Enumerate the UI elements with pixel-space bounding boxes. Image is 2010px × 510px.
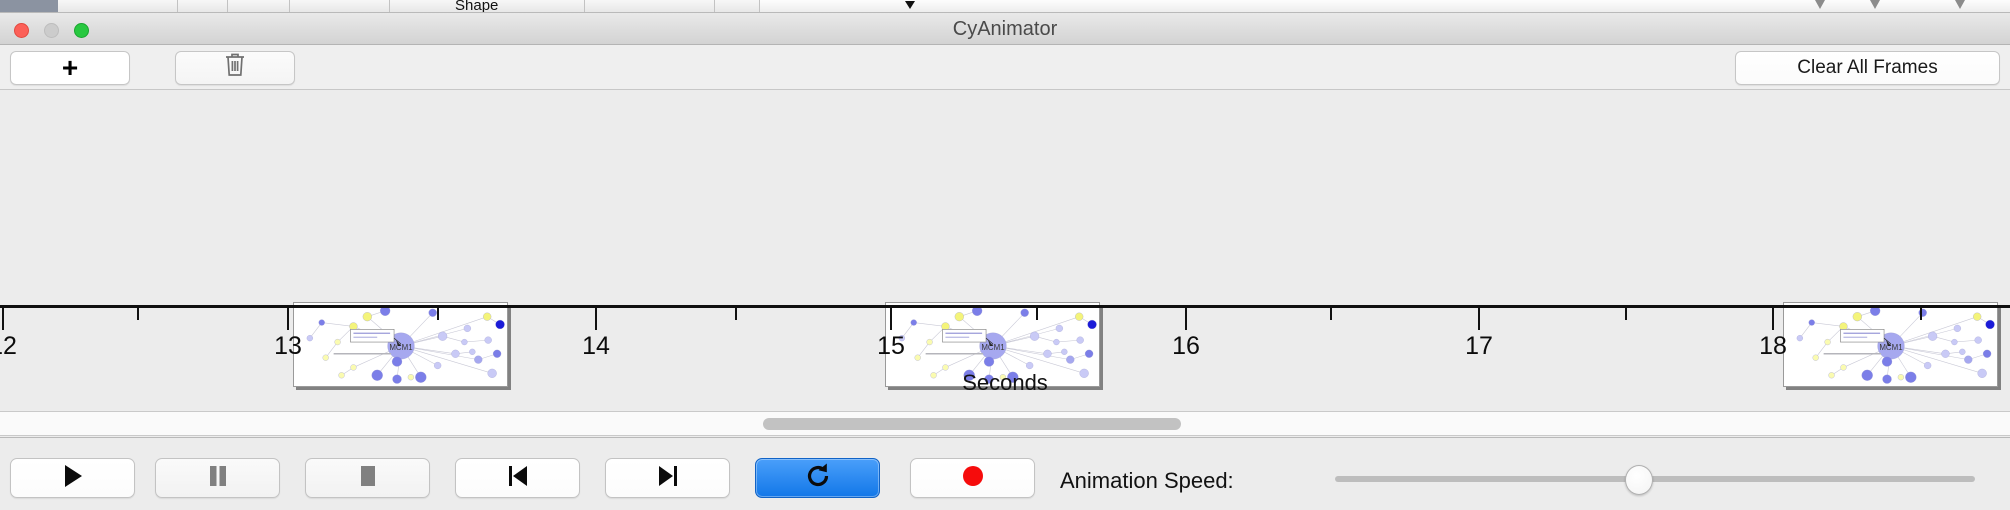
timeline-tick-minor [1330, 308, 1332, 320]
animation-speed-label: Animation Speed: [1060, 468, 1234, 494]
timeline-tick-label: 13 [274, 332, 302, 361]
stop-button[interactable] [305, 458, 430, 498]
record-icon [960, 463, 986, 494]
timeline-tick-label: 15 [877, 332, 905, 361]
loop-button[interactable] [755, 458, 880, 498]
timeline-tick-minor [137, 308, 139, 320]
timeline-tick-major [890, 308, 892, 330]
timeline-tick-major [1185, 308, 1187, 330]
pause-button[interactable] [155, 458, 280, 498]
last-frame-button[interactable] [605, 458, 730, 498]
delete-frame-button[interactable] [175, 51, 295, 85]
clear-all-frames-label: Clear All Frames [1797, 57, 1937, 79]
first-frame-button[interactable] [455, 458, 580, 498]
background-caret-icon [905, 1, 915, 9]
timeline-tick-minor [1920, 308, 1922, 320]
background-window-strip: Shape [0, 0, 2010, 13]
background-tab [228, 0, 290, 13]
timeline-tick-label: 12 [0, 332, 17, 361]
timeline-axis [0, 305, 2010, 308]
skip-forward-icon [656, 463, 680, 494]
axis-title: Seconds [0, 370, 2010, 396]
timeline-tick-minor [1625, 308, 1627, 320]
animation-speed-slider[interactable] [1335, 476, 1975, 482]
clear-all-frames-button[interactable]: Clear All Frames [1735, 51, 2000, 85]
background-column-label: Shape [455, 0, 498, 13]
timeline-tick-minor [1036, 308, 1038, 320]
svg-text:MCM1: MCM1 [389, 343, 412, 352]
timeline-panel[interactable]: MCM1 MCM1 MCM1 12131415161718 Seconds [0, 90, 2010, 412]
plus-icon: + [62, 54, 78, 82]
record-button[interactable] [910, 458, 1035, 498]
timeline-tick-label: 18 [1759, 332, 1787, 361]
background-tab [178, 0, 228, 13]
timeline-tick-major [1478, 308, 1480, 330]
background-tab [715, 0, 760, 13]
trash-icon [224, 52, 246, 84]
timeline-tick-major [2, 308, 4, 330]
timeline-tick-major [287, 308, 289, 330]
timeline-tick-minor [437, 308, 439, 320]
background-tab [290, 0, 390, 13]
play-button[interactable] [10, 458, 135, 498]
add-frame-button[interactable]: + [10, 51, 130, 85]
skip-back-icon [506, 463, 530, 494]
play-icon [62, 463, 84, 494]
background-tab [585, 0, 715, 13]
timeline-scrollbar-thumb[interactable] [763, 418, 1181, 430]
timeline-scrollbar[interactable] [0, 412, 2010, 436]
loop-icon [805, 462, 831, 495]
background-marker-icon [1870, 0, 1880, 9]
timeline-tick-major [1772, 308, 1774, 330]
background-tab [58, 0, 178, 13]
frames-layer: MCM1 MCM1 MCM1 [0, 90, 2010, 315]
timeline-tick-label: 17 [1465, 332, 1493, 361]
background-marker-icon [1815, 0, 1825, 9]
timeline-tick-major [595, 308, 597, 330]
window-titlebar: CyAnimator [0, 13, 2010, 45]
timeline-tick-minor [735, 308, 737, 320]
window-title: CyAnimator [0, 13, 2010, 45]
stop-icon [357, 463, 379, 494]
toolbar: + Clear All Frames [0, 45, 2010, 90]
pause-icon [207, 463, 229, 494]
background-selected-cell [0, 0, 58, 12]
background-marker-icon [1955, 0, 1965, 9]
svg-text:MCM1: MCM1 [981, 343, 1004, 352]
svg-text:MCM1: MCM1 [1879, 343, 1902, 352]
timeline-tick-label: 16 [1172, 332, 1200, 361]
timeline-tick-label: 14 [582, 332, 610, 361]
animation-speed-slider-thumb[interactable] [1625, 465, 1653, 495]
playback-control-bar: Animation Speed: [0, 437, 2010, 510]
